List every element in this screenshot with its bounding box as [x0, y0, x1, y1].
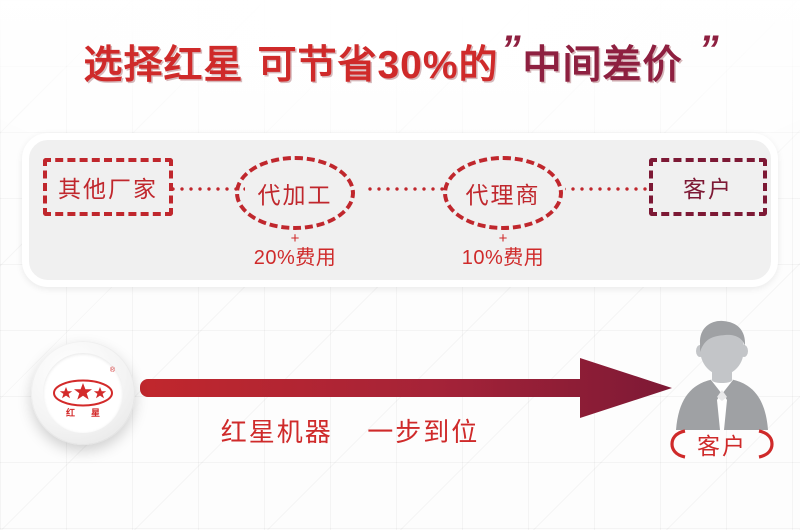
hongxing-logo-badge[interactable]: ® 红 星 [31, 341, 135, 445]
flow-node-label: 代理商 [466, 176, 541, 210]
flow-node-label: 客户 [683, 170, 733, 204]
flow-connector-2 [363, 187, 449, 191]
right-arrow-icon [140, 358, 680, 418]
customer-label-group: 客户 [648, 427, 796, 461]
middleman-flow-card: 其他厂家 代加工 + 20%费用 代理商 + 10%费用 客户 [22, 133, 778, 287]
flow-fee-plus: + [235, 232, 355, 245]
logo-inner: ® 红 星 [43, 353, 123, 433]
headline-part-1: 选择红星 [83, 34, 243, 90]
headline-part-2: 可节省30%的 [257, 34, 498, 90]
logo-brand-text: 红 星 [43, 406, 123, 419]
businessman-avatar-icon [663, 318, 781, 430]
bracket-left-icon [670, 429, 687, 459]
flow-node-oem-processing[interactable]: 代加工 [235, 156, 355, 230]
three-star-oval-icon [52, 378, 114, 408]
logo-char-hong: 红 [66, 406, 75, 419]
flow-node-customer[interactable]: 客户 [649, 158, 767, 216]
flow-fee-oem: + 20%费用 [235, 232, 355, 271]
page-title: 选择红星 可节省30%的 ” 中间差价 ” [0, 32, 800, 92]
flow-fee-amount: 10%费用 [443, 245, 563, 271]
flow-node-other-manufacturer[interactable]: 其他厂家 [43, 158, 173, 216]
flow-fee-plus: + [443, 232, 563, 245]
flow-connector-3 [565, 187, 653, 191]
slogan-part-2: 一步到位 [367, 417, 479, 447]
flow-fee-amount: 20%费用 [235, 245, 355, 271]
registered-trademark-icon: ® [110, 367, 115, 374]
customer-label-text: 客户 [697, 427, 747, 461]
flow-row: 其他厂家 代加工 + 20%费用 代理商 + 10%费用 客户 [29, 140, 771, 280]
slogan-part-1: 红星机器 [221, 417, 333, 447]
headline-part-3: 中间差价 [523, 34, 683, 90]
flow-node-label: 其他厂家 [58, 170, 158, 204]
flow-node-label: 代加工 [258, 176, 333, 210]
flow-fee-agent: + 10%费用 [443, 232, 563, 271]
quote-close-icon: ” [695, 28, 721, 73]
flow-node-agent[interactable]: 代理商 [443, 156, 563, 230]
slogan: 红星机器 一步到位 [140, 412, 560, 449]
logo-char-xing: 星 [91, 406, 100, 419]
quote-open-icon: ” [497, 28, 523, 73]
bracket-right-icon [757, 429, 774, 459]
